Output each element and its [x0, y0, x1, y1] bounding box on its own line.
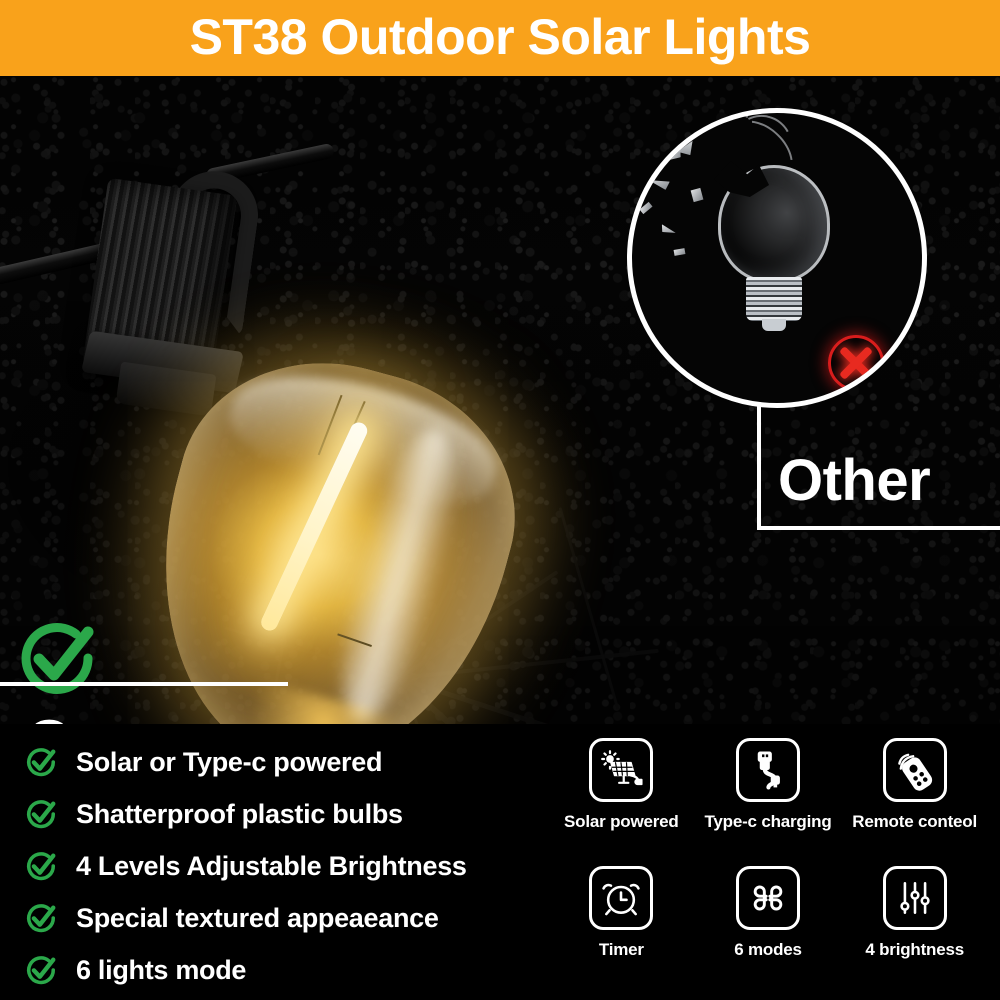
remote-control-icon	[893, 748, 937, 792]
spec-caption: 4 brightness	[865, 941, 964, 958]
header-banner: ST38 Outdoor Solar Lights	[0, 0, 1000, 76]
list-item: 6 lights mode	[24, 944, 524, 996]
spec-caption: Type-c charging	[704, 813, 831, 830]
four-petal-icon	[746, 876, 790, 920]
our-underline	[0, 682, 288, 686]
spec-item-solar-powered: Solar powered	[548, 738, 695, 866]
other-connector-line-vertical	[757, 395, 761, 530]
spec-item-typec-charging: Type-c charging	[695, 738, 842, 866]
spec-caption: Solar powered	[564, 813, 679, 830]
red-x-circle-icon	[828, 335, 884, 391]
green-check-circle-icon	[24, 901, 58, 935]
bulb-screw-base	[746, 277, 802, 321]
glass-shard	[647, 177, 670, 191]
green-check-circle-icon	[24, 849, 58, 883]
page-title: ST38 Outdoor Solar Lights	[190, 12, 811, 62]
glass-shard	[659, 224, 676, 236]
feature-list: Solar or Type-c powered Shatterproof pla…	[24, 736, 524, 996]
glass-shard	[639, 202, 652, 214]
list-item: Shatterproof plastic bulbs	[24, 788, 524, 840]
features-panel: Solar or Type-c powered Shatterproof pla…	[0, 724, 1000, 1000]
green-check-circle-icon	[24, 797, 58, 831]
icon-frame	[736, 738, 800, 802]
bulb-base-tip	[762, 319, 786, 331]
other-underline	[757, 526, 1000, 530]
spec-item-4-brightness: 4 brightness	[841, 866, 988, 994]
spec-icon-grid: Solar powered	[548, 738, 988, 994]
icon-frame	[589, 738, 653, 802]
feature-label: Special textured appeaeance	[76, 905, 439, 932]
list-item: 4 Levels Adjustable Brightness	[24, 840, 524, 892]
spec-caption: Timer	[599, 941, 644, 958]
list-item: Solar or Type-c powered	[24, 736, 524, 788]
spec-caption: Remote conteol	[852, 813, 977, 830]
other-comparison-circle	[627, 108, 927, 408]
other-label: Other	[778, 452, 930, 510]
usb-cable-icon	[746, 748, 790, 792]
alarm-clock-icon	[599, 876, 643, 920]
icon-frame	[883, 866, 947, 930]
list-item: Special textured appeaeance	[24, 892, 524, 944]
solar-panel-icon	[599, 748, 643, 792]
feature-label: 6 lights mode	[76, 957, 246, 984]
green-check-circle-icon	[24, 745, 58, 779]
feature-label: Solar or Type-c powered	[76, 749, 382, 776]
glass-shard	[674, 248, 686, 256]
glass-shard	[691, 188, 704, 202]
icon-frame	[589, 866, 653, 930]
feature-label: Shatterproof plastic bulbs	[76, 801, 403, 828]
spec-item-remote-control: Remote conteol	[841, 738, 988, 866]
shattered-glass-bulb-icon	[710, 131, 840, 327]
green-check-circle-icon	[14, 615, 100, 701]
sliders-icon	[893, 876, 937, 920]
icon-frame	[736, 866, 800, 930]
our-label: Our	[26, 712, 131, 724]
spec-caption: 6 modes	[734, 941, 802, 958]
spec-item-timer: Timer	[548, 866, 695, 994]
product-marketing-image: ST38 Outdoor Solar Lights	[0, 0, 1000, 1000]
icon-frame	[883, 738, 947, 802]
green-check-circle-icon	[24, 953, 58, 987]
spec-item-6-modes: 6 modes	[695, 866, 842, 994]
feature-label: 4 Levels Adjustable Brightness	[76, 853, 467, 880]
our-badge-block: Our	[14, 615, 131, 724]
